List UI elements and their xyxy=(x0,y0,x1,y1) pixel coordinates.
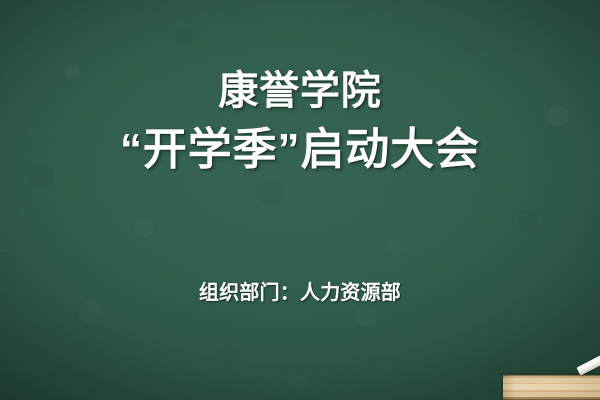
title-slide: 康誉学院 “开学季”启动大会 组织部门：人力资源部 xyxy=(0,0,600,400)
slide-subtitle: 组织部门：人力资源部 xyxy=(0,276,600,305)
chalk-tray xyxy=(503,375,600,400)
slide-content: 康誉学院 “开学季”启动大会 组织部门：人力资源部 xyxy=(0,0,600,400)
slide-title: 康誉学院 “开学季”启动大会 xyxy=(0,66,600,178)
title-line-secondary: “开学季”启动大会 xyxy=(0,122,600,177)
title-line-primary: 康誉学院 xyxy=(0,66,600,116)
chalk-tray-sheen xyxy=(503,375,600,400)
